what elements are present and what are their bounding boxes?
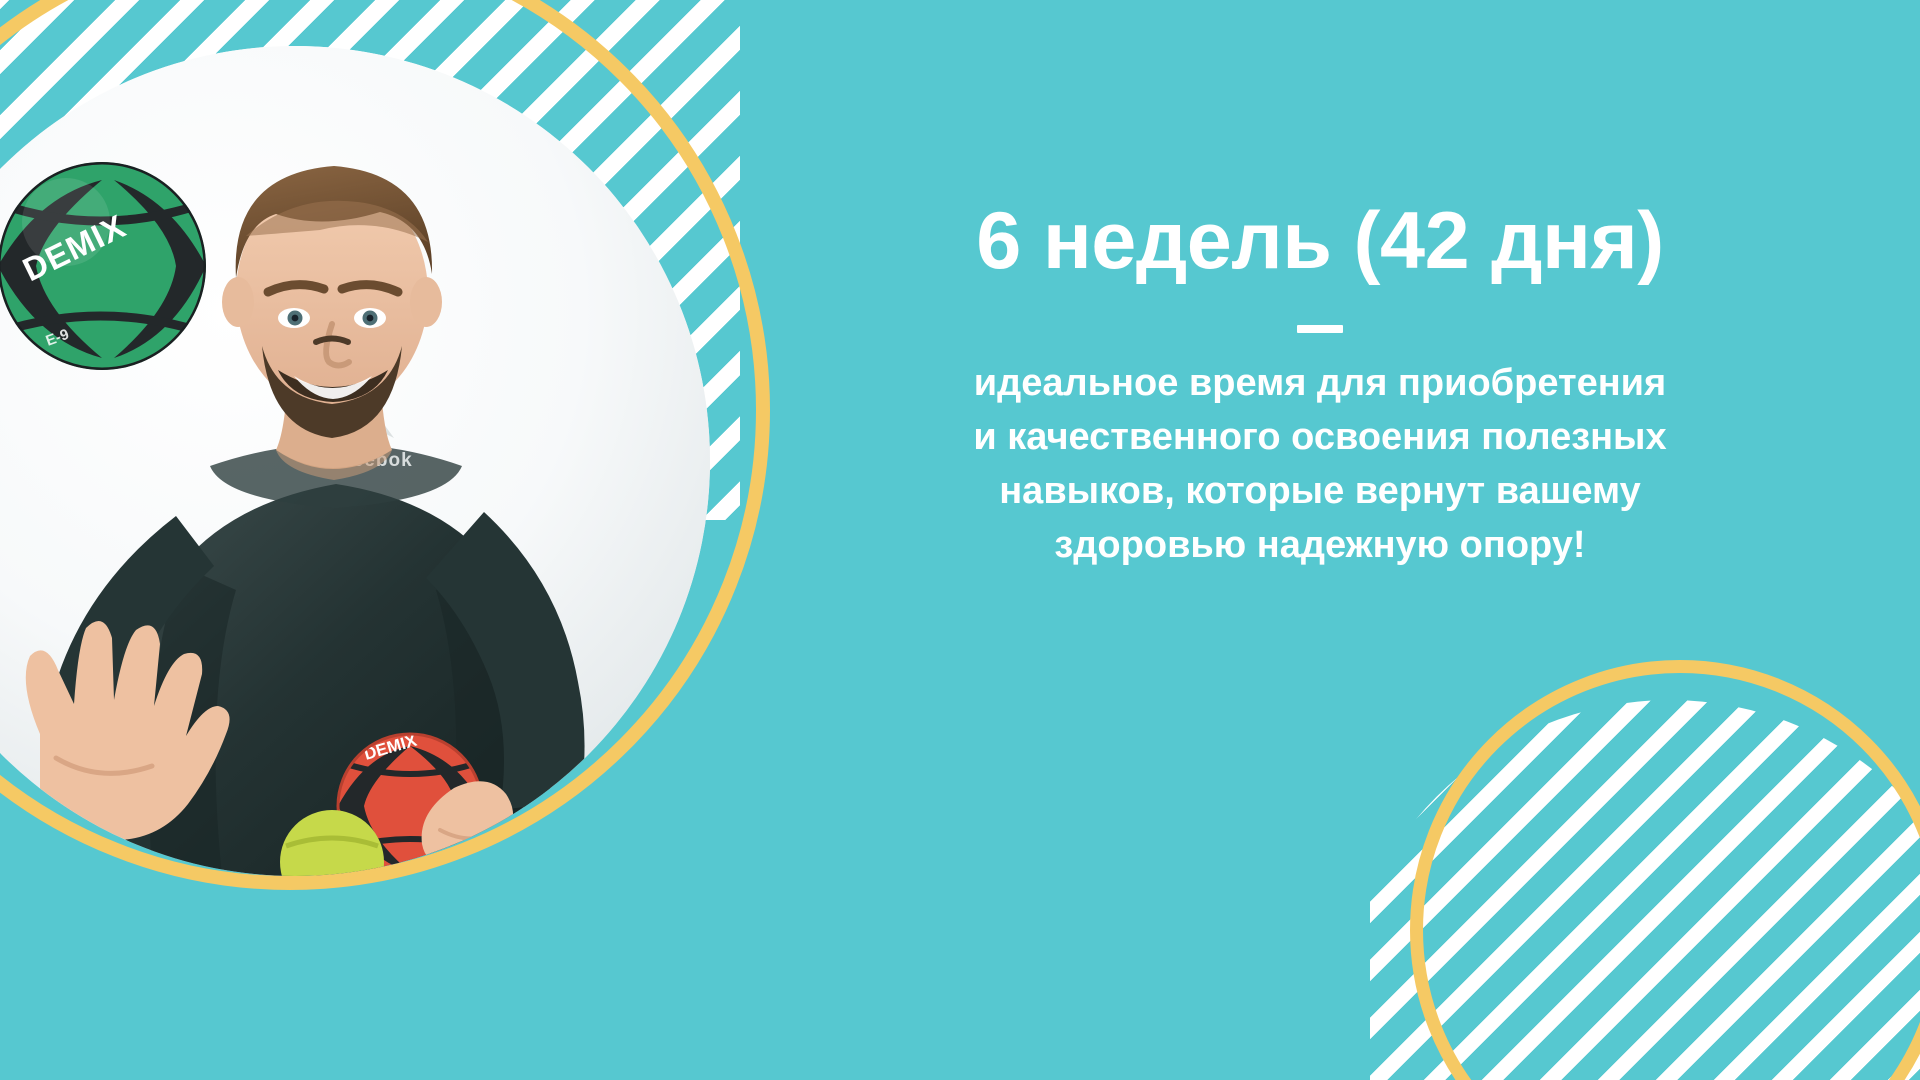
paragraph-line-2: и качественного освоения полезных [973, 411, 1666, 465]
slide-canvas: DEMIX E-9 Reebok [0, 0, 1920, 1080]
portrait-photo: DEMIX E-9 Reebok [0, 46, 710, 876]
text-content: 6 недель (42 дня) идеальное время для пр… [770, 200, 1870, 573]
paragraph-line-1: идеальное время для приобретения [974, 357, 1666, 411]
yellow-ring-bottom-right-icon [1410, 660, 1920, 1080]
page-title: 6 недель (42 дня) [976, 200, 1663, 283]
paragraph-line-4: здоровью надежную опору! [1054, 519, 1585, 573]
divider [1297, 325, 1343, 333]
paragraph-line-3: навыков, которые вернут вашему [999, 465, 1641, 519]
portrait-illustration-icon: DEMIX E-9 Reebok [0, 46, 710, 876]
